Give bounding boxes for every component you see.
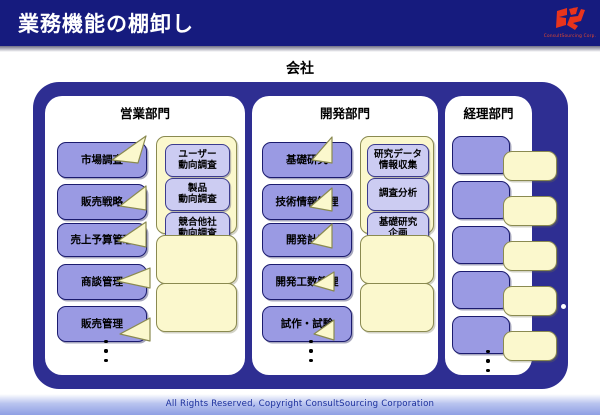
function-box[interactable]: 開発工数管理: [262, 264, 352, 300]
callout-panel[interactable]: 研究データ情報収集調査分析基礎研究企画: [360, 136, 434, 234]
footer-copyright: All Rights Reserved, Copyright ConsultSo…: [0, 399, 600, 409]
function-box[interactable]: 試作・試験: [262, 306, 352, 342]
function-box[interactable]: 市場調査: [57, 142, 147, 178]
function-box[interactable]: 開発計画: [262, 223, 352, 257]
title-bar: 業務機能の棚卸し ConsultSourcing Corp.: [0, 0, 600, 46]
dept-overflow-ellipsis: [101, 340, 111, 362]
function-box[interactable]: [452, 271, 510, 309]
callout-panel[interactable]: [156, 235, 237, 284]
dept-title: 営業部門: [45, 103, 245, 122]
function-box[interactable]: 売上予算管理: [57, 223, 147, 257]
function-box[interactable]: 販売戦略: [57, 184, 147, 220]
callout-panel[interactable]: [503, 331, 557, 361]
function-box[interactable]: [452, 226, 510, 264]
callout-panel[interactable]: [503, 241, 557, 271]
sub-function-box[interactable]: 研究データ情報収集: [367, 144, 429, 177]
company-container: 営業部門市場調査販売戦略売上予算管理商談管理販売管理ユーザー動向調査製品動向調査…: [33, 82, 568, 389]
dept-panel-sales[interactable]: 営業部門市場調査販売戦略売上予算管理商談管理販売管理ユーザー動向調査製品動向調査…: [45, 96, 245, 375]
sub-function-box[interactable]: ユーザー動向調査: [165, 144, 230, 177]
dept-overflow-ellipsis: [306, 340, 316, 362]
function-box[interactable]: 技術情報管理: [262, 184, 352, 220]
dept-title: 開発部門: [252, 103, 438, 122]
function-box[interactable]: 商談管理: [57, 264, 147, 300]
dept-panel-development[interactable]: 開発部門基礎研究技術情報管理開発計画開発工数管理試作・試験研究データ情報収集調査…: [252, 96, 438, 375]
callout-panel[interactable]: [156, 283, 237, 332]
function-box[interactable]: [452, 316, 510, 354]
callout-panel[interactable]: [360, 283, 434, 332]
logo-caption: ConsultSourcing Corp.: [543, 33, 598, 38]
sub-function-box[interactable]: 調査分析: [367, 178, 429, 211]
callout-panel[interactable]: [503, 196, 557, 226]
dept-title: 経理部門: [445, 103, 532, 122]
function-box[interactable]: [452, 181, 510, 219]
dept-panel-accounting[interactable]: 経理部門: [445, 96, 532, 375]
title-bar-shadow: [0, 46, 600, 52]
callout-panel[interactable]: ユーザー動向調査製品動向調査競合他社動向調査: [156, 136, 237, 234]
company-label: 会社: [0, 58, 600, 78]
function-box[interactable]: [452, 136, 510, 174]
function-box[interactable]: 販売管理: [57, 306, 147, 342]
callout-panel[interactable]: [503, 286, 557, 316]
sub-function-box[interactable]: 製品動向調査: [165, 178, 230, 211]
function-box[interactable]: 基礎研究: [262, 142, 352, 178]
more-departments-ellipsis: [561, 304, 588, 309]
consultsourcing-logo-icon: [554, 6, 586, 32]
company-logo: ConsultSourcing Corp.: [548, 6, 592, 42]
callout-panel[interactable]: [503, 151, 557, 181]
callout-panel[interactable]: [360, 235, 434, 284]
dept-overflow-ellipsis: [483, 350, 493, 372]
page-title: 業務機能の棚卸し: [18, 8, 194, 38]
